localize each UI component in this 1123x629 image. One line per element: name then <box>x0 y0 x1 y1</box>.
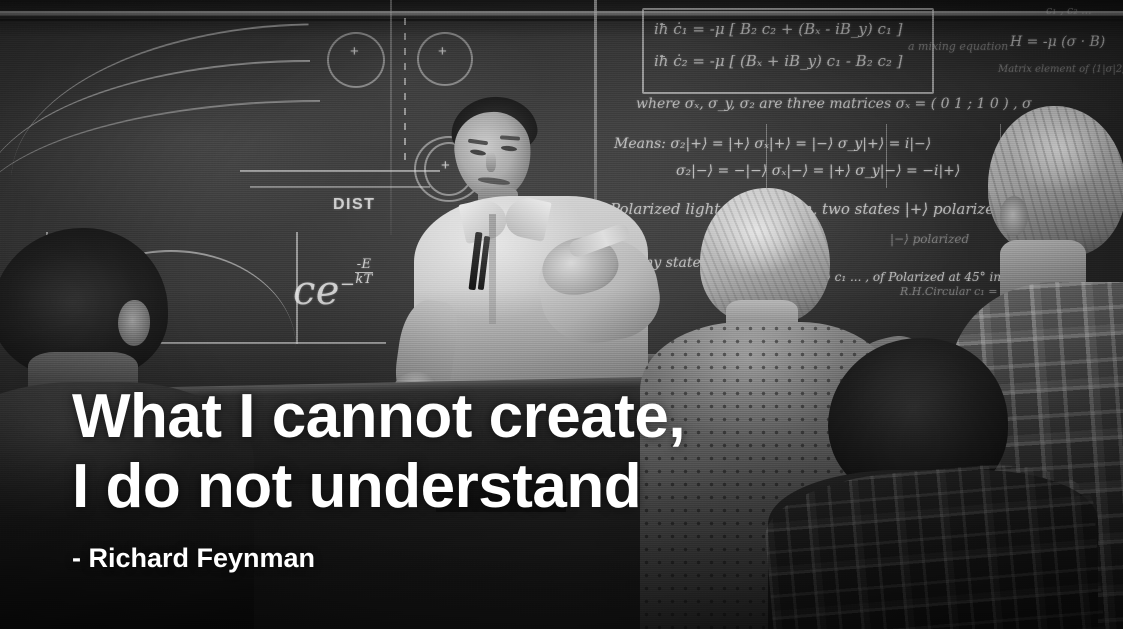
field-circle-diagram <box>327 32 385 88</box>
mixing-equation-note: a mixing equation <box>908 40 1008 53</box>
quote-block: What I cannot create,I do not understand… <box>72 382 685 574</box>
plus-sign: + <box>441 158 450 173</box>
plus-sign: + <box>438 44 447 59</box>
boltzmann-exponent-numerator: -E <box>355 258 372 273</box>
polarized-light-line-2: |−⟩ polarized <box>890 232 969 246</box>
quote-line-2: I do not understand <box>72 452 641 521</box>
lecturer-shirt-placket <box>489 214 496 324</box>
blackboard-top-rail <box>0 11 1123 16</box>
quote-attribution: - Richard Feynman <box>72 542 685 574</box>
boltzmann-exponent-denominator: kT <box>355 272 372 287</box>
quote-poster: DIST ce−-EkT + + + + iħ ċ₁ = -μ [ B₂ c₂ … <box>0 0 1123 629</box>
boltzmann-exponent: −-EkT <box>340 274 373 295</box>
curve-asymptote <box>250 186 430 188</box>
student-left-foreground-ear <box>118 300 150 346</box>
matrices-definition-line: where σₓ, σ_y, σ₂ are three matrices σₓ … <box>636 96 1032 112</box>
c-coefficients-note: c₁ , c₂ ... <box>1046 4 1092 17</box>
hamiltonian-equation: H = -μ (σ · B) <box>1010 34 1105 50</box>
pauli-action-row-2: σ₂|−⟩ = −|−⟩ σₓ|−⟩ = |+⟩ σ_y|−⟩ = −i|+⟩ <box>676 163 960 179</box>
boltzmann-factor: ce−-EkT <box>293 258 373 314</box>
plus-sign: + <box>350 44 359 59</box>
boltzmann-base: ce <box>293 268 340 314</box>
blackboard-top-shadow <box>0 19 1123 21</box>
quote-line-1: What I cannot create, <box>72 382 685 451</box>
pauli-action-row-1: Means: σ₂|+⟩ = |+⟩ σₓ|+⟩ = |−⟩ σ_y|+⟩ = … <box>614 136 931 152</box>
dist-label: DIST <box>333 196 375 214</box>
quote-text: What I cannot create,I do not understand <box>72 382 685 522</box>
lecturer-nose <box>486 152 496 172</box>
curve-asymptote <box>240 170 440 172</box>
student-far-right-ear <box>1000 196 1028 236</box>
dashed-axis <box>404 18 406 168</box>
blackboard-panel-divider-secondary <box>390 0 392 235</box>
matrix-element-note: Matrix element of ⟨1|σ|2⟩ <box>998 64 1123 75</box>
boxed-equation-line-1: iħ ċ₁ = -μ [ B₂ c₂ + (Bₓ - iB_y) c₁ ] <box>654 20 903 38</box>
boxed-equation-line-2: iħ ċ₂ = -μ [ (Bₓ + iB_y) c₁ - B₂ c₂ ] <box>654 52 903 70</box>
